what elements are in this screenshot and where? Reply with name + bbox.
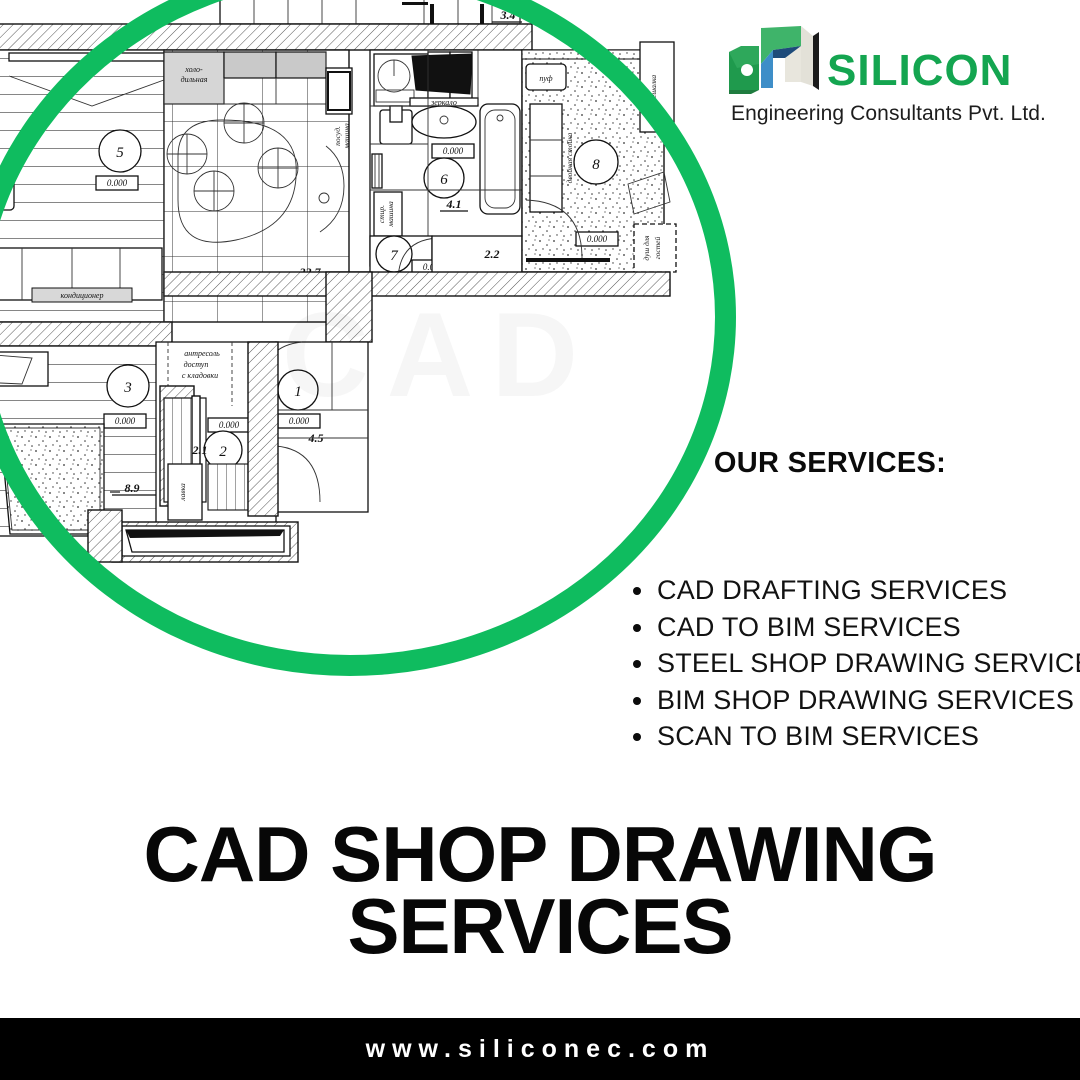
building-logo-icon bbox=[727, 24, 823, 94]
list-item: BIM SHOP DRAWING SERVICES bbox=[628, 682, 1080, 719]
list-item: CAD DRAFTING SERVICES bbox=[628, 572, 1080, 609]
list-item: SCAN TO BIM SERVICES bbox=[628, 718, 1080, 755]
brand-name: SILICON bbox=[827, 49, 1012, 93]
list-item: CAD TO BIM SERVICES bbox=[628, 609, 1080, 646]
poster-canvas: .w { fill:url(#hatch); stroke:#111; stro… bbox=[0, 0, 1080, 1080]
footer-bar: www.siliconec.com bbox=[0, 1018, 1080, 1080]
services-heading: OUR SERVICES: bbox=[600, 447, 1060, 480]
list-item: STEEL SHOP DRAWING SERVICES bbox=[628, 645, 1080, 682]
brand-tagline: Engineering Consultants Pvt. Ltd. bbox=[731, 102, 1046, 126]
brand-logo: SILICON Engineering Consultants Pvt. Ltd… bbox=[727, 24, 1047, 136]
page-title: CAD SHOP DRAWING SERVICES bbox=[0, 818, 1080, 962]
website-url[interactable]: www.siliconec.com bbox=[0, 1018, 1080, 1080]
services-list: CAD DRAFTING SERVICES CAD TO BIM SERVICE… bbox=[628, 572, 1080, 755]
